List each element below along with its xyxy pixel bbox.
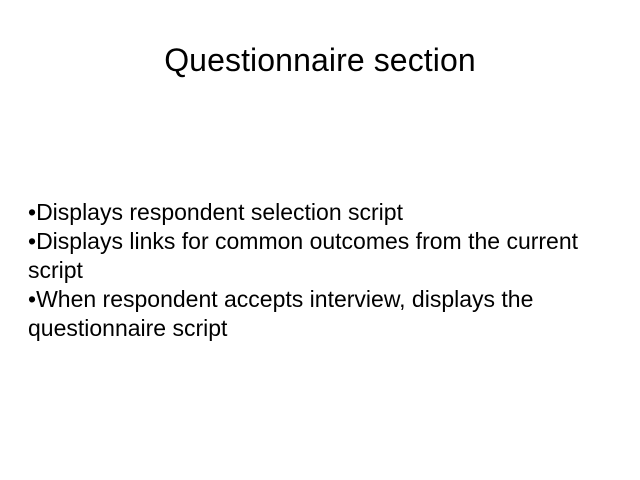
- list-item-label: When respondent accepts interview, displ…: [28, 286, 540, 341]
- bullet-point-icon: •: [28, 199, 36, 225]
- list-item: •Displays respondent selection script: [28, 198, 616, 227]
- list-item: •Displays links for common outcomes from…: [28, 227, 616, 285]
- bullet-point-icon: •: [28, 228, 36, 254]
- list-item: •When respondent accepts interview, disp…: [28, 285, 616, 343]
- list-item-label: Displays respondent selection script: [36, 199, 403, 225]
- list-item-label: Displays links for common outcomes from …: [28, 228, 584, 283]
- bullet-point-icon: •: [28, 286, 36, 312]
- bullet-list: •Displays respondent selection script •D…: [28, 198, 616, 343]
- slide-canvas: Questionnaire section •Displays responde…: [0, 0, 640, 480]
- page-title: Questionnaire section: [0, 41, 640, 79]
